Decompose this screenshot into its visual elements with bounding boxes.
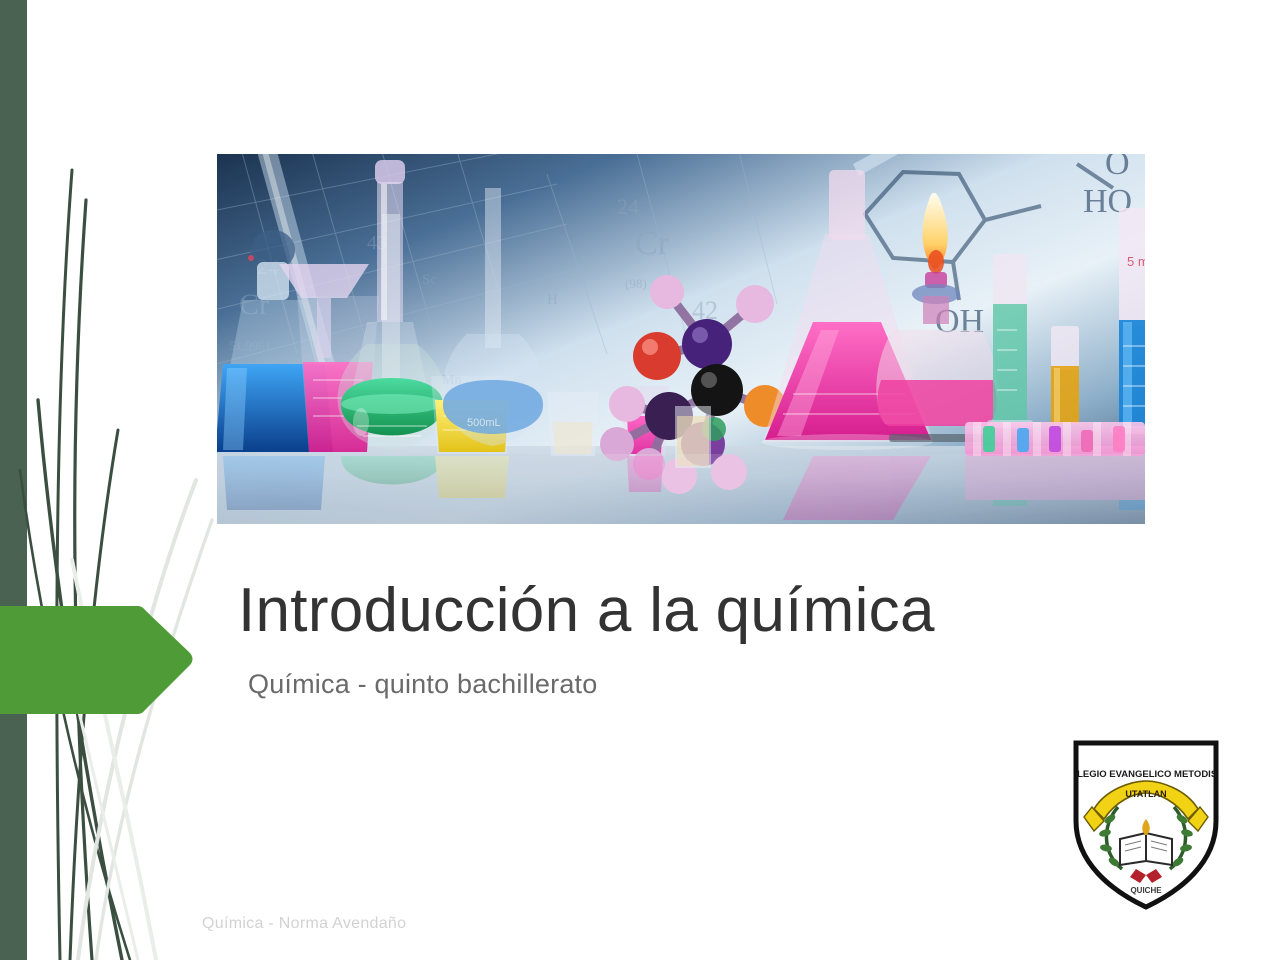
slide-title: Introducción a la química bbox=[238, 578, 1178, 643]
svg-text:Cr: Cr bbox=[635, 225, 670, 262]
green-chevron-shape bbox=[0, 600, 200, 720]
svg-text:O: O bbox=[1105, 154, 1130, 182]
school-crest-logo: COLEGIO EVANGELICO METODISTA UTATLAN bbox=[1062, 735, 1230, 913]
svg-text:(98): (98) bbox=[625, 276, 647, 291]
crest-banner-text: UTATLAN bbox=[1125, 789, 1166, 799]
slide-footer: Química - Norma Avendaño bbox=[202, 915, 406, 933]
slide-subtitle: Química - quinto bachillerato bbox=[248, 669, 1148, 700]
svg-text:5 mL: 5 mL bbox=[1127, 254, 1145, 269]
svg-text:500mL: 500mL bbox=[467, 417, 501, 429]
presentation-slide: 24 Cr 51.9961 12 43 Sc H 24 Cr (98) 42 T… bbox=[0, 0, 1280, 960]
svg-text:Sc: Sc bbox=[422, 272, 437, 288]
crest-top-text: COLEGIO EVANGELICO METODISTA bbox=[1063, 769, 1229, 780]
chemistry-laboratory-photo: 24 Cr 51.9961 12 43 Sc H 24 Cr (98) 42 T… bbox=[217, 154, 1145, 524]
hero-image-frame: 24 Cr 51.9961 12 43 Sc H 24 Cr (98) 42 T… bbox=[217, 154, 1145, 524]
crest-bottom-text: QUICHE bbox=[1130, 886, 1162, 895]
svg-text:24: 24 bbox=[617, 194, 639, 219]
svg-text:H: H bbox=[547, 292, 558, 308]
